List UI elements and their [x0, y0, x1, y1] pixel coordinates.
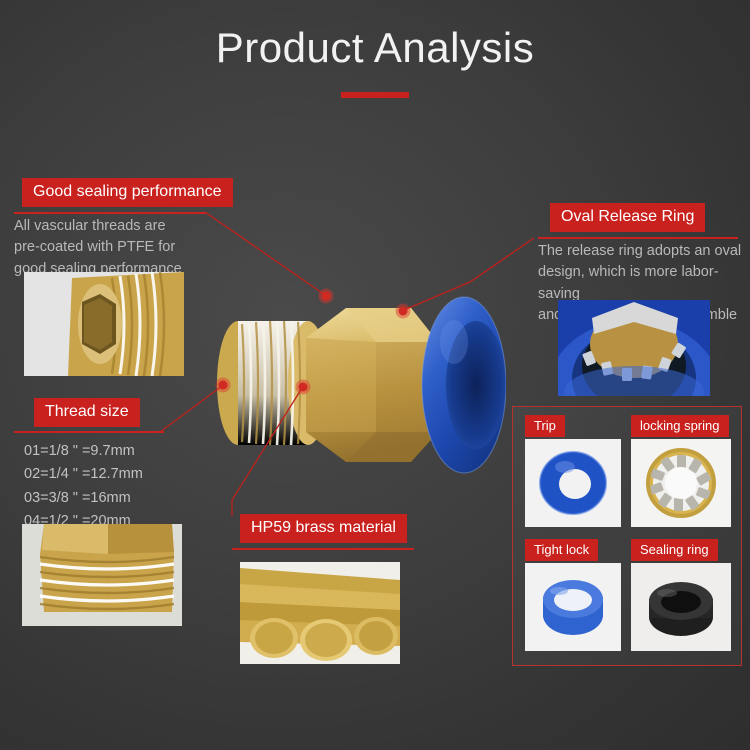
label-thread-size[interactable]: Thread size — [34, 398, 140, 427]
text-thread-size-specs: 01=1/8 " =9.7mm 02=1/4 " =12.7mm 03=3/8 … — [24, 440, 214, 534]
label-oval-release-underline — [538, 237, 738, 239]
parts-panel: Trip locking spring — [512, 406, 742, 666]
part-cell-trip[interactable]: Trip — [523, 415, 623, 533]
part-photo-tight-lock — [525, 563, 621, 651]
part-cell-locking-spring[interactable]: locking spring — [631, 415, 735, 533]
part-label-trip: Trip — [525, 415, 565, 437]
part-label-sealing-ring: Sealing ring — [631, 539, 718, 561]
photo-brass-rods — [240, 562, 400, 664]
label-thread-size-underline — [14, 431, 164, 433]
page-title: Product Analysis — [0, 24, 750, 72]
photo-thread-closeup — [24, 272, 184, 376]
main-product-photo — [196, 246, 506, 518]
label-hp59-underline — [232, 548, 414, 550]
part-photo-sealing-ring — [631, 563, 731, 651]
part-photo-locking-spring — [631, 439, 731, 527]
part-cell-sealing-ring[interactable]: Sealing ring — [631, 539, 735, 659]
part-label-locking-spring: locking spring — [631, 415, 729, 437]
text-good-sealing-body: All vascular threads are pre-coated with… — [14, 216, 229, 280]
photo-release-ring-detail — [558, 300, 710, 396]
title-underline-rule — [341, 92, 409, 98]
label-hp59-brass-material[interactable]: HP59 brass material — [240, 514, 407, 543]
label-good-sealing-performance[interactable]: Good sealing performance — [22, 178, 233, 207]
label-oval-release-ring[interactable]: Oval Release Ring — [550, 203, 705, 232]
part-label-tight-lock: Tight lock — [525, 539, 598, 561]
photo-thread-ptfe — [22, 524, 182, 626]
part-photo-trip — [525, 439, 621, 527]
infographic-canvas: Product Analysis — [0, 0, 750, 750]
label-good-sealing-underline — [14, 212, 206, 214]
part-cell-tight-lock[interactable]: Tight lock — [523, 539, 623, 659]
